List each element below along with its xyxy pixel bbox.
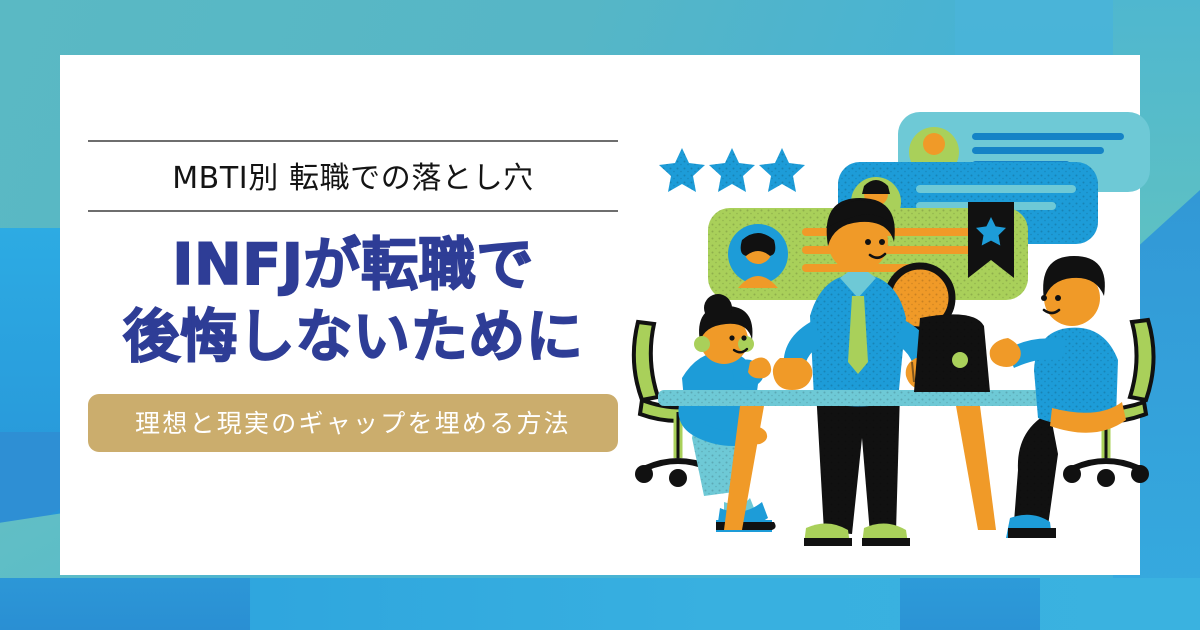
rule-bottom (88, 210, 618, 212)
headline-line-1: INFJが転職で (88, 230, 618, 302)
laptop (914, 314, 990, 392)
star-icon-1 (659, 148, 705, 192)
star-rating-icons (659, 148, 805, 192)
star-icon-2 (709, 148, 755, 192)
background-blue-bottom-left (0, 578, 250, 630)
background-blue-bottom-right (900, 578, 1040, 630)
thumbnail-canvas: MBTI別 転職での落とし穴 INFJが転職で 後悔しないために 理想と現実のギ… (0, 0, 1200, 630)
subtitle-badge: 理想と現実のギャップを埋める方法 (88, 394, 618, 452)
title-block: MBTI別 転職での落とし穴 INFJが転職で 後悔しないために 理想と現実のギ… (88, 140, 618, 452)
laptop-indicator (952, 352, 968, 368)
kicker-text: MBTI別 転職での落とし穴 (88, 142, 618, 210)
hero-illustration (620, 90, 1180, 550)
page-title: INFJが転職で 後悔しないために (88, 230, 618, 374)
star-icon-3 (759, 148, 805, 192)
headline-line-2: 後悔しないために (88, 302, 618, 374)
